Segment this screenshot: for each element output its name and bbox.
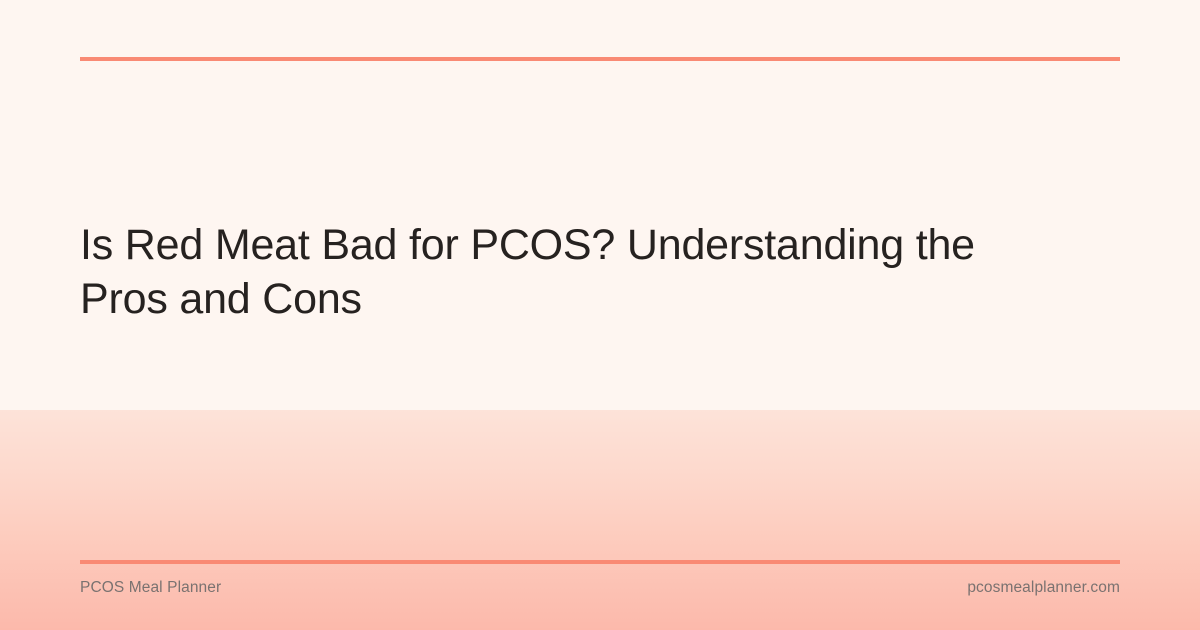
headline-block: Is Red Meat Bad for PCOS? Understanding … — [80, 218, 1040, 326]
social-share-card: Is Red Meat Bad for PCOS? Understanding … — [0, 0, 1200, 630]
footer-brand-name: PCOS Meal Planner — [80, 578, 221, 598]
top-accent-rule — [80, 57, 1120, 61]
footer: PCOS Meal Planner pcosmealplanner.com — [80, 578, 1120, 598]
bottom-accent-rule — [80, 560, 1120, 564]
page-title: Is Red Meat Bad for PCOS? Understanding … — [80, 218, 1040, 326]
footer-site-url: pcosmealplanner.com — [967, 578, 1120, 598]
